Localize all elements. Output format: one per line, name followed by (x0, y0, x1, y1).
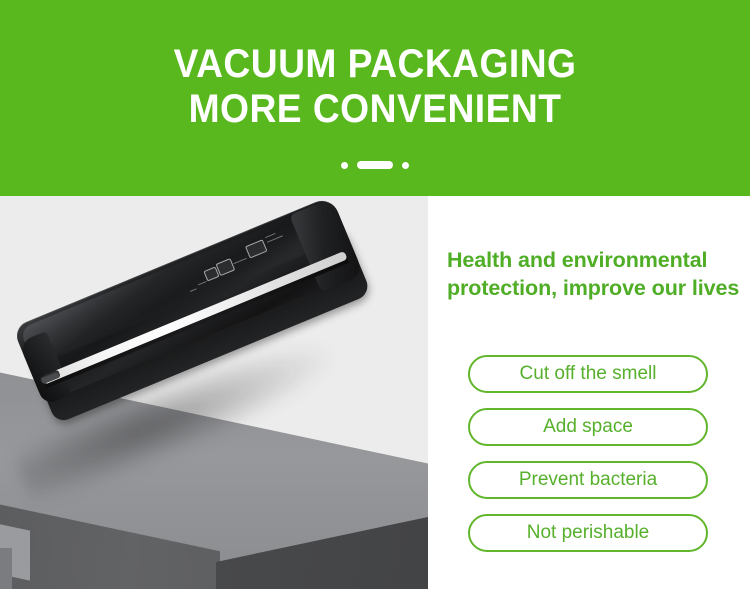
control-label-line-3 (265, 233, 276, 238)
promo-banner-page: VACUUM PACKAGING MORE CONVENIENT (0, 0, 750, 589)
control-button-icon-mode (245, 239, 268, 258)
feature-pill-add-space[interactable]: Add space (468, 408, 708, 446)
feature-pill-cut-off-the-smell[interactable]: Cut off the smell (468, 355, 708, 393)
control-label-line-1 (234, 258, 247, 264)
banner-title: VACUUM PACKAGING MORE CONVENIENT (26, 42, 724, 132)
pedestal-small-front-face (0, 548, 12, 589)
feature-pill-not-perishable[interactable]: Not perishable (468, 514, 708, 552)
product-image-panel (0, 196, 428, 589)
feature-pill-list: Cut off the smell Add space Prevent bact… (468, 355, 710, 552)
ornament-dot-right (402, 162, 409, 169)
title-divider-ornament (0, 158, 750, 172)
feature-pill-prevent-bacteria[interactable]: Prevent bacteria (468, 461, 708, 499)
feature-info-panel: Health and environmental protection, imp… (428, 196, 750, 589)
ornament-bar (357, 161, 393, 169)
ornament-dot-left (341, 162, 348, 169)
header-banner: VACUUM PACKAGING MORE CONVENIENT (0, 0, 750, 196)
feature-heading: Health and environmental protection, imp… (447, 246, 742, 302)
